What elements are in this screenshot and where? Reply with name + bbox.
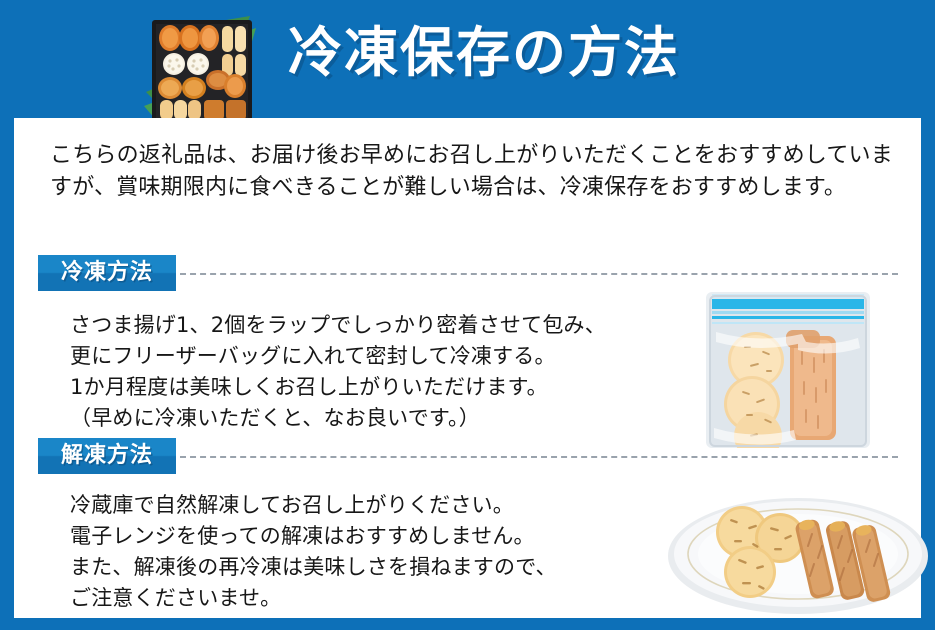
infographic-page: 冷凍保存の方法 こちらの返礼品は、お届け後お早めにお召し上がりいただくことをおす… <box>0 0 935 630</box>
header-band: 冷凍保存の方法 <box>0 0 935 118</box>
page-title: 冷凍保存の方法 <box>288 26 680 80</box>
intro-paragraph: こちらの返礼品は、お届け後お早めにお召し上がりいただくことをおすすめしていますが… <box>50 140 895 204</box>
freezer-bag-image <box>698 288 878 448</box>
content-card: こちらの返礼品は、お届け後お早めにお召し上がりいただくことをおすすめしていますが… <box>14 118 921 618</box>
divider-dashed-thaw <box>180 456 898 458</box>
freeze-method-body: さつま揚げ1、2個をラップでしっかり密着させて包み、 更にフリーザーバッグに入れ… <box>70 310 690 434</box>
section-header-freeze: 冷凍方法 <box>38 255 898 291</box>
divider-dashed-freeze <box>180 273 898 275</box>
section-header-thaw: 解凍方法 <box>38 438 898 474</box>
badge-thaw-method: 解凍方法 <box>38 438 176 474</box>
badge-freeze-method: 冷凍方法 <box>38 255 176 291</box>
bento-box-image <box>138 14 266 132</box>
plate-image <box>662 490 934 618</box>
thaw-method-body: 冷蔵庫で自然解凍してお召し上がりください。 電子レンジを使っての解凍はおすすめし… <box>70 490 670 614</box>
